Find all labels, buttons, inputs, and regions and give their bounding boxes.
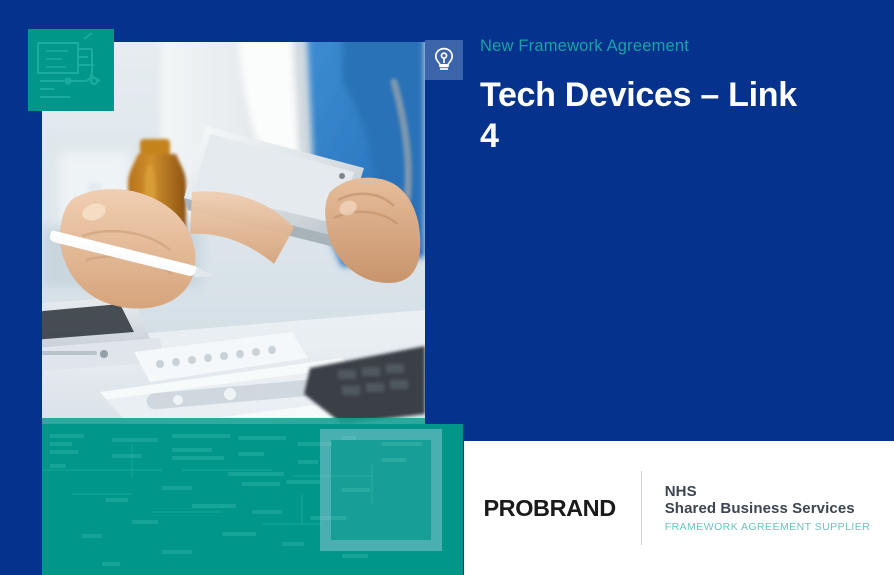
lightbulb-badge <box>425 40 463 80</box>
logo-row: PROBRAND NHS Shared Business Services FR… <box>485 471 870 545</box>
nhs-sbs-logo: NHS Shared Business Services FRAMEWORK A… <box>665 483 871 534</box>
circuit-pattern-icon <box>28 29 114 111</box>
probrand-logo: PROBRAND <box>483 495 642 522</box>
page-title: Tech Devices – Link 4 <box>480 75 810 157</box>
nhs-line-1: NHS <box>665 483 871 501</box>
nhs-line-2: Shared Business Services <box>665 500 871 518</box>
eyebrow-text: New Framework Agreement <box>480 37 689 56</box>
logo-card: PROBRAND NHS Shared Business Services FR… <box>464 441 894 575</box>
promo-banner: New Framework Agreement Tech Devices – L… <box>0 0 894 575</box>
nhs-line-3: FRAMEWORK AGREEMENT SUPPLIER <box>665 521 871 533</box>
decor-chip-top-left <box>28 29 114 111</box>
lightbulb-icon <box>432 47 456 73</box>
decor-square-outline <box>320 429 442 551</box>
